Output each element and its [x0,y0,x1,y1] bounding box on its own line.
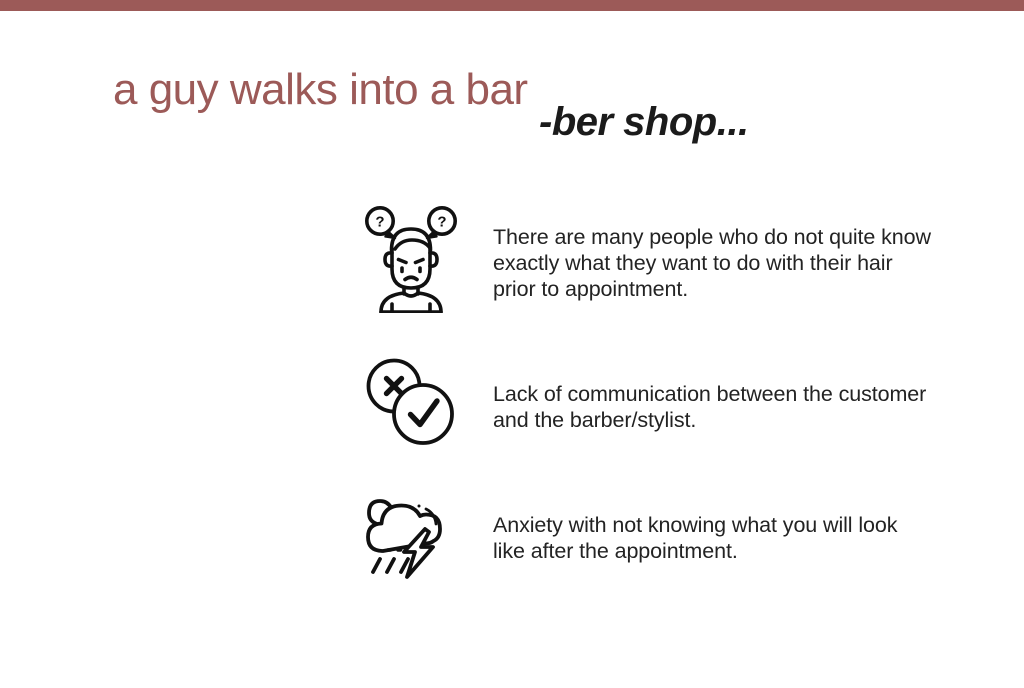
slide-subtitle: -ber shop... [539,100,749,144]
bullet-text: Anxiety with not knowing what you will l… [493,489,933,564]
bullet-text: There are many people who do not quite k… [493,205,933,302]
bullet-text: Lack of communication between the custom… [493,356,933,433]
bullet-icon-slot: ? ? [355,205,467,313]
bullet-row: Lack of communication between the custom… [355,356,955,448]
top-accent-bar [0,0,1024,11]
svg-text:?: ? [375,214,384,231]
bullet-icon-slot [355,356,467,448]
storm-cloud-lightning-icon [359,489,463,585]
bullet-row: ? ? [355,205,955,313]
svg-text:?: ? [437,214,446,231]
slide-title: a guy walks into a bar [113,66,528,114]
slide-canvas: a guy walks into a bar -ber shop... ? ? [0,0,1024,688]
cross-and-check-circles-icon [361,356,461,448]
bullet-row: Anxiety with not knowing what you will l… [355,489,955,585]
bullet-icon-slot [355,489,467,585]
confused-person-icon: ? ? [362,205,460,313]
